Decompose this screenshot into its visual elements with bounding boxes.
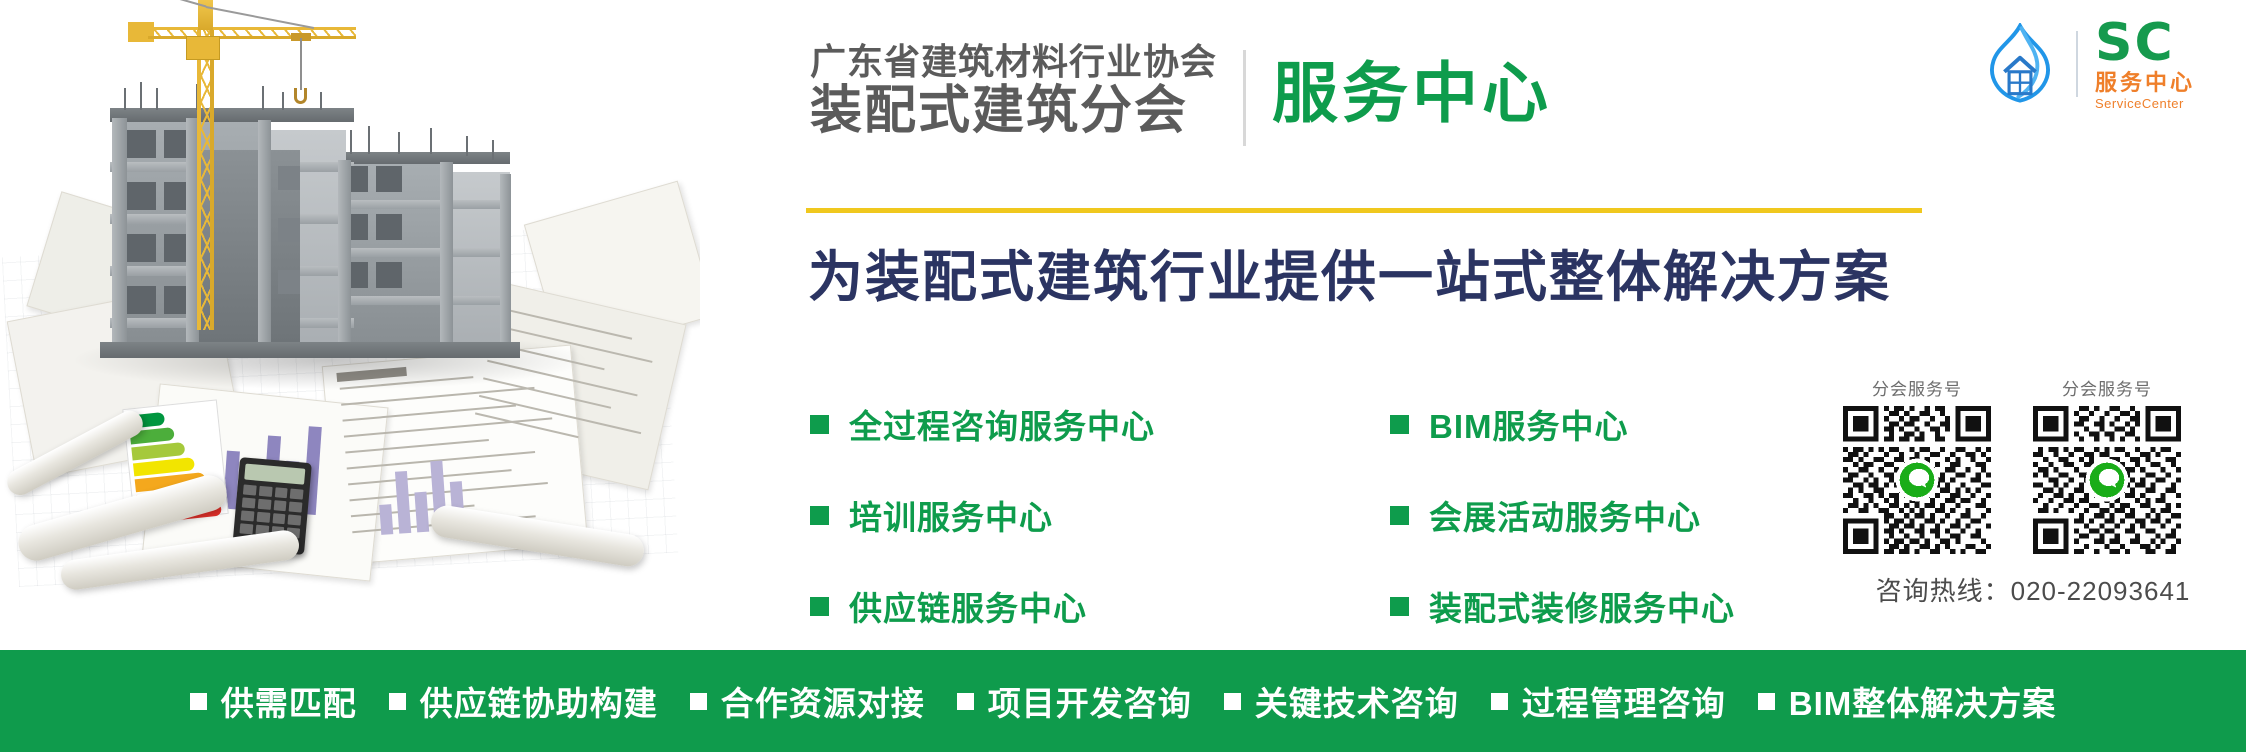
logo-abbr: SC <box>2095 17 2195 69</box>
qr-caption: 分会服务号 <box>2033 375 2181 400</box>
content-area: SC 服务中心 ServiceCenter 广东省建筑材料行业协会 装配式建筑分… <box>700 0 2246 650</box>
footer-item-label: 过程管理咨询 <box>1522 677 1726 725</box>
slogan: 为装配式建筑行业提供一站式整体解决方案 <box>808 232 1891 312</box>
square-bullet-icon <box>1390 506 1409 525</box>
logo[interactable]: SC 服务中心 ServiceCenter <box>1981 17 2195 110</box>
window-openings <box>110 108 520 353</box>
service-item[interactable]: BIM服务中心 <box>1390 400 1880 448</box>
title-divider <box>1243 50 1246 146</box>
footer-item-label: 合作资源对接 <box>721 677 925 725</box>
square-bullet-icon <box>1491 693 1508 710</box>
square-bullet-icon <box>810 506 829 525</box>
service-item[interactable]: 供应链服务中心 <box>810 582 1390 630</box>
square-bullet-icon <box>810 415 829 434</box>
gold-divider <box>806 208 1922 213</box>
qr-code-icon[interactable] <box>2033 406 2181 554</box>
logo-en-name: ServiceCenter <box>2095 97 2195 110</box>
blue-flame-house-icon <box>1981 23 2059 105</box>
footer-item-label: 供需匹配 <box>221 677 357 725</box>
footer-item-label: 项目开发咨询 <box>988 677 1192 725</box>
qr-code-icon[interactable] <box>1843 406 1991 554</box>
square-bullet-icon <box>1224 693 1241 710</box>
square-bullet-icon <box>1390 415 1409 434</box>
banner-root: SC 服务中心 ServiceCenter 广东省建筑材料行业协会 装配式建筑分… <box>0 0 2246 752</box>
footer-item[interactable]: 项目开发咨询 <box>957 677 1192 725</box>
footer-item[interactable]: 供需匹配 <box>190 677 357 725</box>
footer-item[interactable]: 合作资源对接 <box>690 677 925 725</box>
square-bullet-icon <box>810 597 829 616</box>
hotline: 咨询热线：020-22093641 <box>1843 571 2223 608</box>
square-bullet-icon <box>389 693 406 710</box>
footer-item[interactable]: 过程管理咨询 <box>1491 677 1726 725</box>
square-bullet-icon <box>690 693 707 710</box>
qr-block: 分会服务号 <box>1843 375 2223 608</box>
service-item-label: 全过程咨询服务中心 <box>849 400 1155 448</box>
square-bullet-icon <box>190 693 207 710</box>
qr-cell: 分会服务号 <box>2033 375 2181 559</box>
footer-item-label: 供应链协助构建 <box>420 677 658 725</box>
square-bullet-icon <box>1758 693 1775 710</box>
square-bullet-icon <box>1390 597 1409 616</box>
qr-caption: 分会服务号 <box>1843 375 1991 400</box>
square-bullet-icon <box>957 693 974 710</box>
service-item-label: 会展活动服务中心 <box>1429 491 1701 539</box>
logo-divider <box>2076 31 2078 97</box>
service-item-label: 培训服务中心 <box>849 491 1053 539</box>
service-item[interactable]: 全过程咨询服务中心 <box>810 400 1390 448</box>
title-row: 广东省建筑材料行业协会 装配式建筑分会 服务中心 <box>810 44 1552 146</box>
service-item[interactable]: 培训服务中心 <box>810 491 1390 539</box>
qr-cell: 分会服务号 <box>1843 375 1991 559</box>
footer-item-label: BIM整体解决方案 <box>1789 677 2057 725</box>
footer-item[interactable]: 供应链协助构建 <box>389 677 658 725</box>
service-item-label: BIM服务中心 <box>1429 400 1629 448</box>
footer-item-label: 关键技术咨询 <box>1255 677 1459 725</box>
service-item[interactable]: 装配式装修服务中心 <box>1390 582 1880 630</box>
org-name-line2: 装配式建筑分会 <box>810 85 1217 138</box>
logo-cn-name: 服务中心 <box>2095 72 2195 94</box>
service-item[interactable]: 会展活动服务中心 <box>1390 491 1880 539</box>
footer-item[interactable]: 关键技术咨询 <box>1224 677 1459 725</box>
hero-image <box>0 0 700 650</box>
org-name-line1: 广东省建筑材料行业协会 <box>810 44 1217 81</box>
service-item-label: 供应链服务中心 <box>849 582 1087 630</box>
service-list: 全过程咨询服务中心 BIM服务中心 培训服务中心 会展活动服务中心 供应链服务中… <box>810 400 1880 630</box>
service-center-title: 服务中心 <box>1272 60 1552 126</box>
service-item-label: 装配式装修服务中心 <box>1429 582 1735 630</box>
footer-item[interactable]: BIM整体解决方案 <box>1758 677 2057 725</box>
footer-bar: 供需匹配 供应链协助构建 合作资源对接 项目开发咨询 关键技术咨询 过程管理咨询 <box>0 650 2246 752</box>
